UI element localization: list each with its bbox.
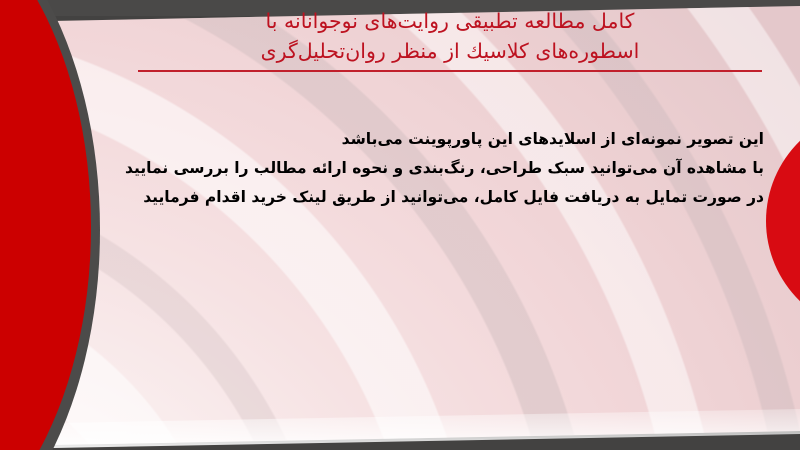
slide-body-line-2: با مشاهده آن می‌توانید سبک طراحی، رنگ‌بن…: [44, 154, 764, 183]
slide-title-line-1: کامل مطالعه تطبیقی روایت‌های نوجوانانه ب…: [138, 6, 762, 36]
slide-body-line-3: در صورت تمایل به دریافت فایل کامل، می‌تو…: [44, 183, 764, 212]
slide-body-line-1: این تصویر نمونه‌ای از اسلایدهای این پاور…: [44, 125, 764, 154]
slide-title-line-2: اسطوره‌های کلاسیك از منظر روان‌تحلیل‌گری: [138, 36, 762, 72]
slide-title: کامل مطالعه تطبیقی روایت‌های نوجوانانه ب…: [138, 6, 762, 72]
presentation-slide: کامل مطالعه تطبیقی روایت‌های نوجوانانه ب…: [0, 0, 800, 450]
slide-body: این تصویر نمونه‌ای از اسلایدهای این پاور…: [44, 125, 764, 212]
